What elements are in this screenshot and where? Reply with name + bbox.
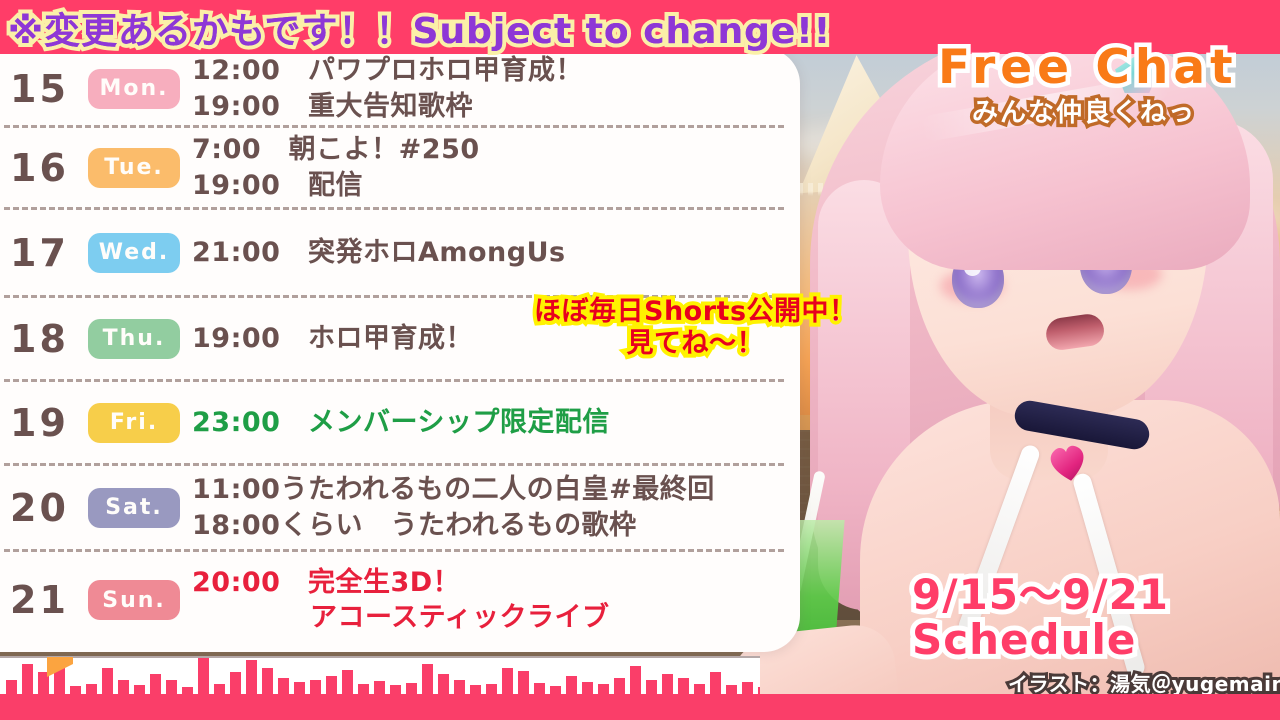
schedule-entry: 21:00 突発ホロAmongUs — [192, 235, 784, 270]
shorts-announcement-line2: 見てね〜！ — [534, 328, 857, 360]
schedule-entry: 12:00 パワプロホロ甲育成！ — [192, 53, 784, 88]
schedule-row: 16Tue.7:00 朝こよ！#25019:00 配信 — [4, 128, 784, 210]
day-badge: Tue. — [88, 148, 180, 188]
date-number: 18 — [4, 317, 88, 361]
schedule-entry: 7:00 朝こよ！#250 — [192, 132, 784, 167]
date-number: 20 — [4, 486, 88, 530]
schedule-word: Schedule — [912, 617, 1169, 662]
schedule-row: 19Fri.23:00 メンバーシップ限定配信 — [4, 382, 784, 466]
schedule-entries: 21:00 突発ホロAmongUs — [192, 235, 784, 270]
schedule-entry: 19:00 重大告知歌枠 — [192, 89, 784, 124]
schedule-entries: 12:00 パワプロホロ甲育成！19:00 重大告知歌枠 — [192, 53, 784, 123]
schedule-graphic: 15Mon.12:00 パワプロホロ甲育成！19:00 重大告知歌枠16Tue.… — [0, 0, 1280, 720]
free-chat-subtitle: みんな仲良くねっ — [972, 92, 1196, 129]
schedule-entry: 19:00 配信 — [192, 168, 784, 203]
subject-to-change-notice: ※変更あるかもです！！Subject to change!! — [8, 2, 831, 54]
day-badge: Mon. — [88, 69, 180, 109]
schedule-row: 20Sat.11:00うたわれるもの二人の白皇#最終回18:00くらい うたわれ… — [4, 466, 784, 552]
date-number: 19 — [4, 401, 88, 445]
day-badge: Sun. — [88, 580, 180, 620]
schedule-entries: 20:00 完全生3D！アコースティックライブ — [192, 565, 784, 635]
date-number: 17 — [4, 231, 88, 275]
schedule-entry: 18:00くらい うたわれるもの歌枠 — [192, 508, 784, 543]
schedule-entry: 11:00うたわれるもの二人の白皇#最終回 — [192, 472, 784, 507]
date-number: 15 — [4, 67, 88, 111]
schedule-entries: 7:00 朝こよ！#25019:00 配信 — [192, 132, 784, 202]
day-badge: Wed. — [88, 233, 180, 273]
date-number: 21 — [4, 578, 88, 622]
day-badge: Sat. — [88, 488, 180, 528]
date-number: 16 — [4, 146, 88, 190]
shorts-announcement-line1: ほぼ毎日Shorts公開中！ — [534, 296, 857, 327]
schedule-entries: 11:00うたわれるもの二人の白皇#最終回18:00くらい うたわれるもの歌枠 — [192, 472, 784, 542]
date-range-title: 9/15〜9/21 Schedule — [912, 572, 1169, 663]
schedule-row: 15Mon.12:00 パワプロホロ甲育成！19:00 重大告知歌枠 — [4, 52, 784, 128]
day-badge: Fri. — [88, 403, 180, 443]
schedule-entry: 23:00 メンバーシップ限定配信 — [192, 405, 784, 440]
schedule-entries: 23:00 メンバーシップ限定配信 — [192, 405, 784, 440]
schedule-entry: アコースティックライブ — [192, 600, 784, 635]
shorts-announcement: ほぼ毎日Shorts公開中！ 見てね〜！ — [534, 296, 857, 360]
footer-strip — [0, 694, 1280, 720]
schedule-row: 21Sun.20:00 完全生3D！アコースティックライブ — [4, 552, 784, 648]
day-badge: Thu. — [88, 319, 180, 359]
schedule-row: 17Wed.21:00 突発ホロAmongUs — [4, 210, 784, 298]
free-chat-title: Free Chat — [938, 40, 1238, 95]
schedule-entry: 20:00 完全生3D！ — [192, 565, 784, 600]
date-range-value: 9/15〜9/21 — [912, 570, 1169, 619]
